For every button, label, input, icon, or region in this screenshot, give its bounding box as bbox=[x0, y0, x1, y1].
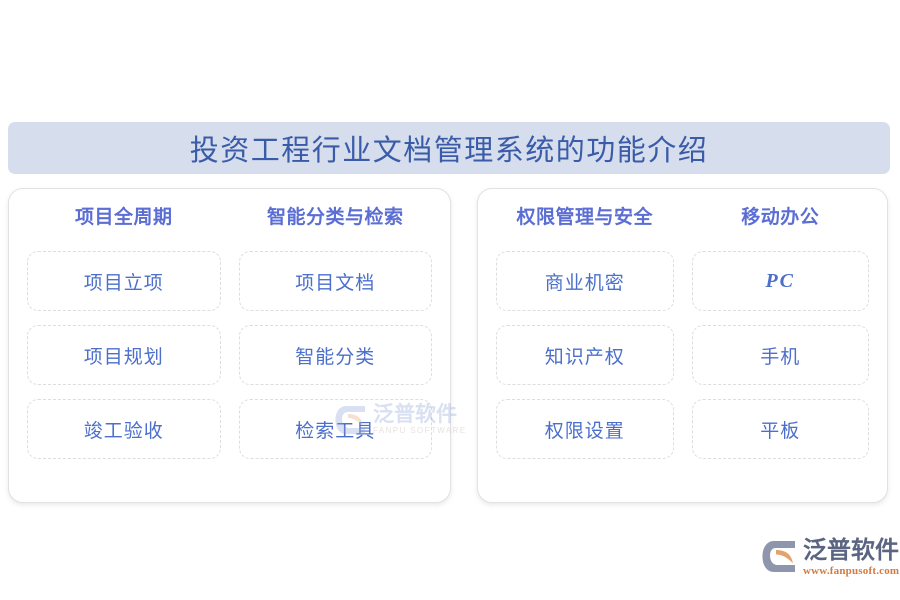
brand-texts: 泛普软件 www.fanpusoft.com bbox=[803, 538, 899, 578]
column-header: 智能分类与检索 bbox=[239, 205, 433, 231]
slide-canvas: 投资工程行业文档管理系统的功能介绍 项目全周期 项目立项 项目规划 竣工验收 bbox=[0, 0, 900, 600]
item-label: PC bbox=[765, 270, 795, 293]
list-item[interactable]: 平板 bbox=[692, 399, 870, 459]
item-list: 项目立项 项目规划 竣工验收 bbox=[27, 251, 221, 459]
column-smart-classification-search: 智能分类与检索 项目文档 智能分类 检索工具 bbox=[239, 205, 433, 484]
item-label: 项目规划 bbox=[84, 342, 164, 369]
brand-url: www.fanpusoft.com bbox=[803, 564, 899, 578]
item-list: PC 手机 平板 bbox=[692, 251, 870, 459]
item-label: 项目立项 bbox=[84, 268, 164, 295]
page-title: 投资工程行业文档管理系统的功能介绍 bbox=[190, 127, 709, 169]
list-item[interactable]: 检索工具 bbox=[239, 399, 433, 459]
list-item[interactable]: 手机 bbox=[692, 325, 870, 385]
item-label: 知识产权 bbox=[545, 342, 625, 369]
fanpu-logo-icon bbox=[762, 540, 798, 573]
item-label: 智能分类 bbox=[295, 342, 375, 369]
panel-right: 权限管理与安全 商业机密 知识产权 权限设置 移动办公 bbox=[477, 188, 888, 503]
item-label: 项目文档 bbox=[295, 268, 375, 295]
item-label: 权限设置 bbox=[545, 416, 625, 443]
column-mobile-office: 移动办公 PC 手机 平板 bbox=[692, 205, 870, 484]
list-item[interactable]: 智能分类 bbox=[239, 325, 433, 385]
column-permission-security: 权限管理与安全 商业机密 知识产权 权限设置 bbox=[496, 205, 674, 484]
item-label: 手机 bbox=[760, 342, 800, 369]
list-item[interactable]: 项目立项 bbox=[27, 251, 221, 311]
item-label: 平板 bbox=[760, 416, 800, 443]
list-item[interactable]: 项目文档 bbox=[239, 251, 433, 311]
column-header: 项目全周期 bbox=[27, 205, 221, 231]
item-list: 项目文档 智能分类 检索工具 bbox=[239, 251, 433, 459]
list-item[interactable]: PC bbox=[692, 251, 870, 311]
column-project-lifecycle: 项目全周期 项目立项 项目规划 竣工验收 bbox=[27, 205, 221, 484]
list-item[interactable]: 知识产权 bbox=[496, 325, 674, 385]
item-label: 检索工具 bbox=[295, 416, 375, 443]
list-item[interactable]: 商业机密 bbox=[496, 251, 674, 311]
title-banner: 投资工程行业文档管理系统的功能介绍 bbox=[8, 122, 890, 174]
item-label: 竣工验收 bbox=[84, 416, 164, 443]
brand-name: 泛普软件 bbox=[803, 538, 899, 564]
feature-panels: 项目全周期 项目立项 项目规划 竣工验收 智能分类与检索 bbox=[8, 188, 890, 503]
column-header: 权限管理与安全 bbox=[496, 205, 674, 231]
panel-left: 项目全周期 项目立项 项目规划 竣工验收 智能分类与检索 bbox=[8, 188, 451, 503]
item-list: 商业机密 知识产权 权限设置 bbox=[496, 251, 674, 459]
list-item[interactable]: 竣工验收 bbox=[27, 399, 221, 459]
item-label: 商业机密 bbox=[545, 268, 625, 295]
column-header: 移动办公 bbox=[692, 205, 870, 231]
list-item[interactable]: 项目规划 bbox=[27, 325, 221, 385]
brand-logo: 泛普软件 www.fanpusoft.com bbox=[762, 538, 894, 588]
list-item[interactable]: 权限设置 bbox=[496, 399, 674, 459]
